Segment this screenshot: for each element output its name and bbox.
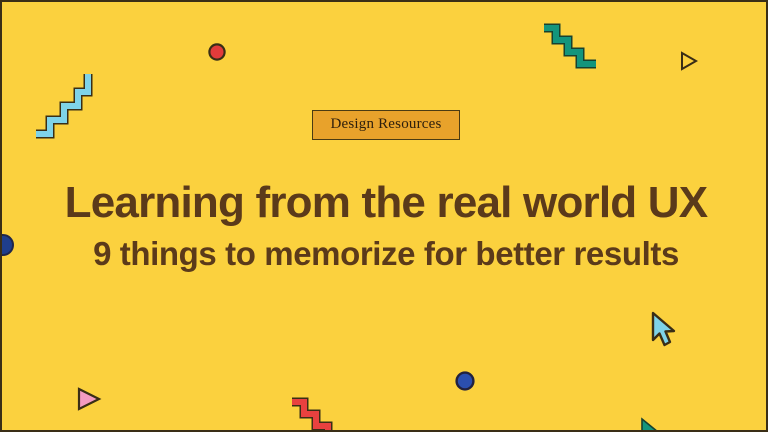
page-title: Learning from the real world UX: [65, 181, 708, 225]
page-subtitle: 9 things to memorize for better results: [93, 237, 679, 270]
badge-design-resources: Design Resources: [312, 110, 459, 140]
presentation-slide: Design Resources Learning from the real …: [0, 0, 768, 432]
slide-content: Design Resources Learning from the real …: [2, 2, 768, 432]
